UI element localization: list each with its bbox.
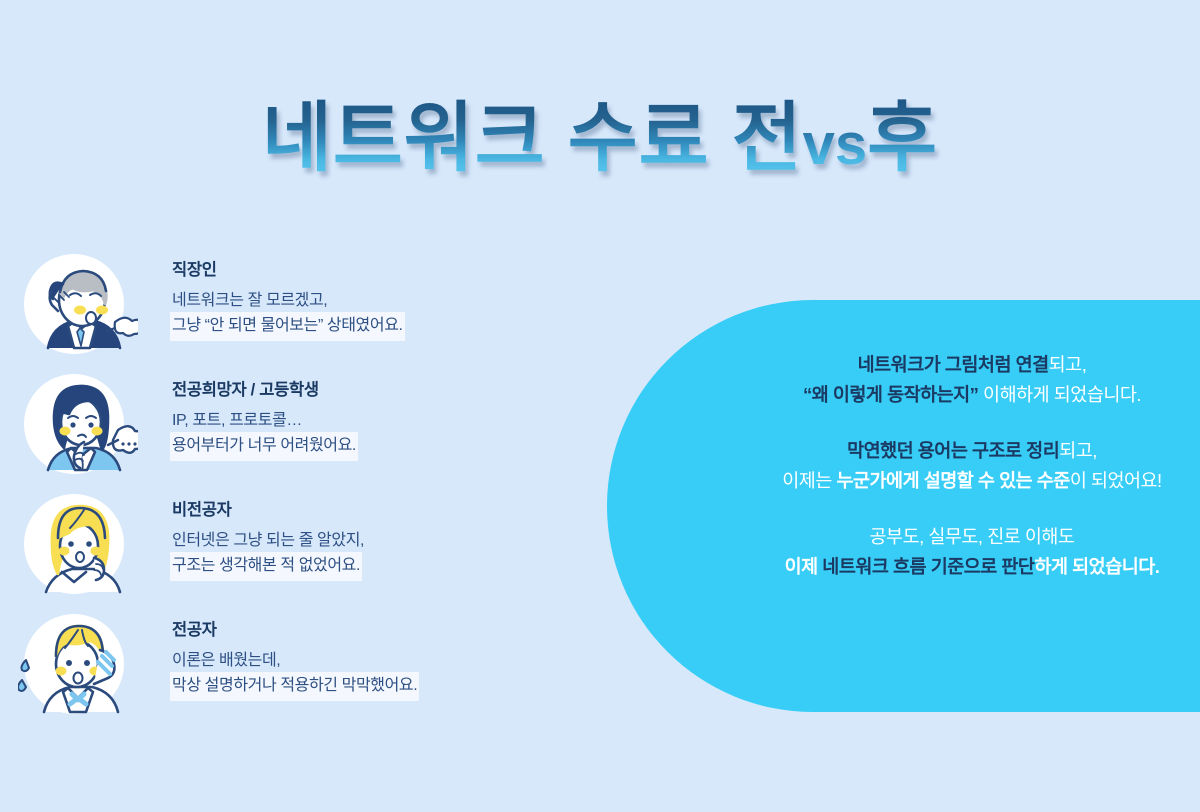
person-line-2: 용어부터가 너무 어려웠어요.: [172, 434, 356, 459]
person-label: 전공자: [172, 616, 417, 640]
person-line-1: 네트워크는 잘 모르겠고,: [172, 289, 403, 314]
person-text: 비전공자 인터넷은 그냥 되는 줄 알았지, 구조는 생각해본 적 없었어요.: [172, 488, 364, 579]
after-plain: 공부도, 실무도, 진로 이해도: [870, 526, 1075, 547]
person-line-2: 막상 설명하거나 적용하긴 막막했어요.: [172, 674, 417, 699]
person-text: 직장인 네트워크는 잘 모르겠고, 그냥 “안 되면 물어보는” 상태였어요.: [172, 248, 403, 339]
infographic-canvas: 네트워크 수료 전vs후: [0, 0, 1200, 812]
list-item: 직장인 네트워크는 잘 모르겠고, 그냥 “안 되면 물어보는” 상태였어요.: [18, 248, 578, 366]
list-item: 비전공자 인터넷은 그냥 되는 줄 알았지, 구조는 생각해본 적 없었어요.: [18, 488, 578, 606]
after-line: 이제는 누군가에게 설명할 수 있는 수준이 되었어요!: [737, 466, 1200, 496]
after-panel: 네트워크가 그림처럼 연결되고, “왜 이렇게 동작하는지” 이해하게 되었습니…: [607, 300, 1200, 712]
after-line: 이제 네트워크 흐름 기준으로 판단하게 되었습니다.: [737, 552, 1200, 582]
before-column: 직장인 네트워크는 잘 모르겠고, 그냥 “안 되면 물어보는” 상태였어요.: [18, 248, 578, 728]
after-strong: 막연했던 용어는 구조로 정리: [847, 440, 1059, 461]
title-after: 후: [867, 96, 938, 181]
title-text: 네트워크 수료 전vs후: [262, 96, 938, 181]
after-line: 공부도, 실무도, 진로 이해도: [737, 522, 1200, 552]
list-item: 전공자 이론은 배웠는데, 막상 설명하거나 적용하긴 막막했어요.: [18, 608, 578, 726]
after-strong: “왜 이렇게 동작하는지”: [803, 384, 978, 405]
person-text: 전공자 이론은 배웠는데, 막상 설명하거나 적용하긴 막막했어요.: [172, 608, 417, 699]
after-rest: 하게 되었습니다.: [1034, 556, 1159, 577]
after-strong: 네트워크가 그림처럼 연결: [858, 354, 1049, 375]
after-block: 막연했던 용어는 구조로 정리되고, 이제는 누군가에게 설명할 수 있는 수준…: [737, 436, 1200, 496]
after-rest: 되고,: [1049, 354, 1087, 375]
after-line: 네트워크가 그림처럼 연결되고,: [737, 350, 1200, 380]
list-item: 전공희망자 / 고등학생 IP, 포트, 프로토콜… 용어부터가 너무 어려웠어…: [18, 368, 578, 486]
office-worker-avatar: [18, 248, 138, 360]
after-rest: 되고,: [1059, 440, 1097, 461]
title-main: 네트워크 수료 전: [262, 96, 803, 181]
after-rest: 이 되었어요!: [1070, 470, 1162, 491]
after-pre: 이제: [785, 556, 823, 577]
after-strong: 네트워크 흐름 기준으로 판단: [822, 556, 1034, 577]
person-line-1: IP, 포트, 프로토콜…: [172, 409, 356, 434]
after-strong: 누군가에게 설명할 수 있는 수준: [836, 470, 1069, 491]
person-line-1: 인터넷은 그냥 되는 줄 알았지,: [172, 529, 364, 554]
person-line-1: 이론은 배웠는데,: [172, 649, 417, 674]
person-label: 비전공자: [172, 496, 364, 520]
person-line-2: 그냥 “안 되면 물어보는” 상태였어요.: [172, 314, 403, 339]
title-vs: vs: [803, 112, 868, 177]
student-girl-avatar: [18, 368, 138, 480]
blonde-woman-avatar: [18, 488, 138, 600]
person-text: 전공희망자 / 고등학생 IP, 포트, 프로토콜… 용어부터가 너무 어려웠어…: [172, 368, 356, 459]
after-block: 네트워크가 그림처럼 연결되고, “왜 이렇게 동작하는지” 이해하게 되었습니…: [737, 350, 1200, 410]
after-block: 공부도, 실무도, 진로 이해도 이제 네트워크 흐름 기준으로 판단하게 되었…: [737, 522, 1200, 582]
after-panel-content: 네트워크가 그림처럼 연결되고, “왜 이렇게 동작하는지” 이해하게 되었습니…: [737, 350, 1200, 582]
person-label: 직장인: [172, 256, 403, 280]
person-line-2: 구조는 생각해본 적 없었어요.: [172, 554, 360, 579]
after-line: 막연했던 용어는 구조로 정리되고,: [737, 436, 1200, 466]
after-line: “왜 이렇게 동작하는지” 이해하게 되었습니다.: [737, 380, 1200, 410]
young-man-avatar: [18, 608, 138, 720]
after-pre: 이제는: [782, 470, 836, 491]
person-label: 전공희망자 / 고등학생: [172, 376, 356, 400]
page-title: 네트워크 수료 전vs후: [0, 96, 1200, 181]
after-rest: 이해하게 되었습니다.: [978, 384, 1141, 405]
